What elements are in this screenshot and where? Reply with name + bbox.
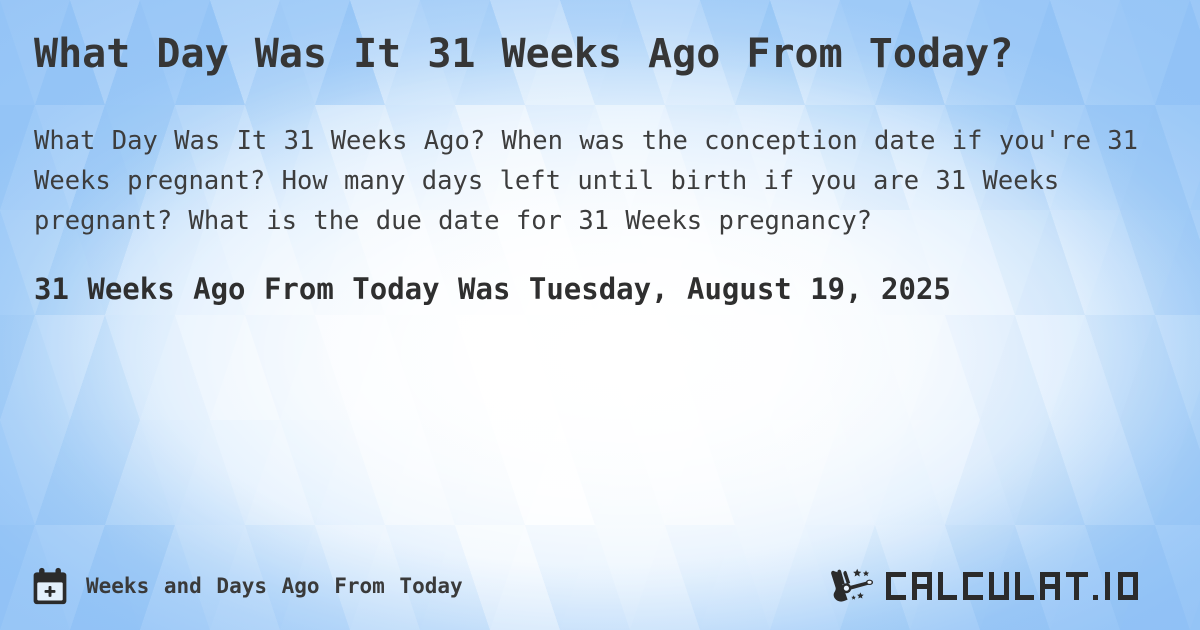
footer-label: Weeks and Days Ago From Today [86, 574, 463, 598]
intro-paragraph: What Day Was It 31 Weeks Ago? When was t… [34, 121, 1166, 242]
brand-wordmark: CALCULAT.IO [884, 566, 1164, 606]
footer: Weeks and Days Ago From Today [0, 566, 1200, 606]
footer-left-group: Weeks and Days Ago From Today [30, 566, 463, 606]
calendar-plus-icon [30, 566, 70, 606]
card-content: What Day Was It 31 Weeks Ago From Today?… [0, 0, 1200, 630]
answer-statement: 31 Weeks Ago From Today Was Tuesday, Aug… [34, 268, 1166, 310]
brand-logo[interactable]: CALCULAT.IO [828, 566, 1164, 606]
social-card: What Day Was It 31 Weeks Ago From Today?… [0, 0, 1200, 630]
page-title: What Day Was It 31 Weeks Ago From Today? [34, 30, 1044, 79]
hand-magic-wand-icon [828, 566, 880, 606]
